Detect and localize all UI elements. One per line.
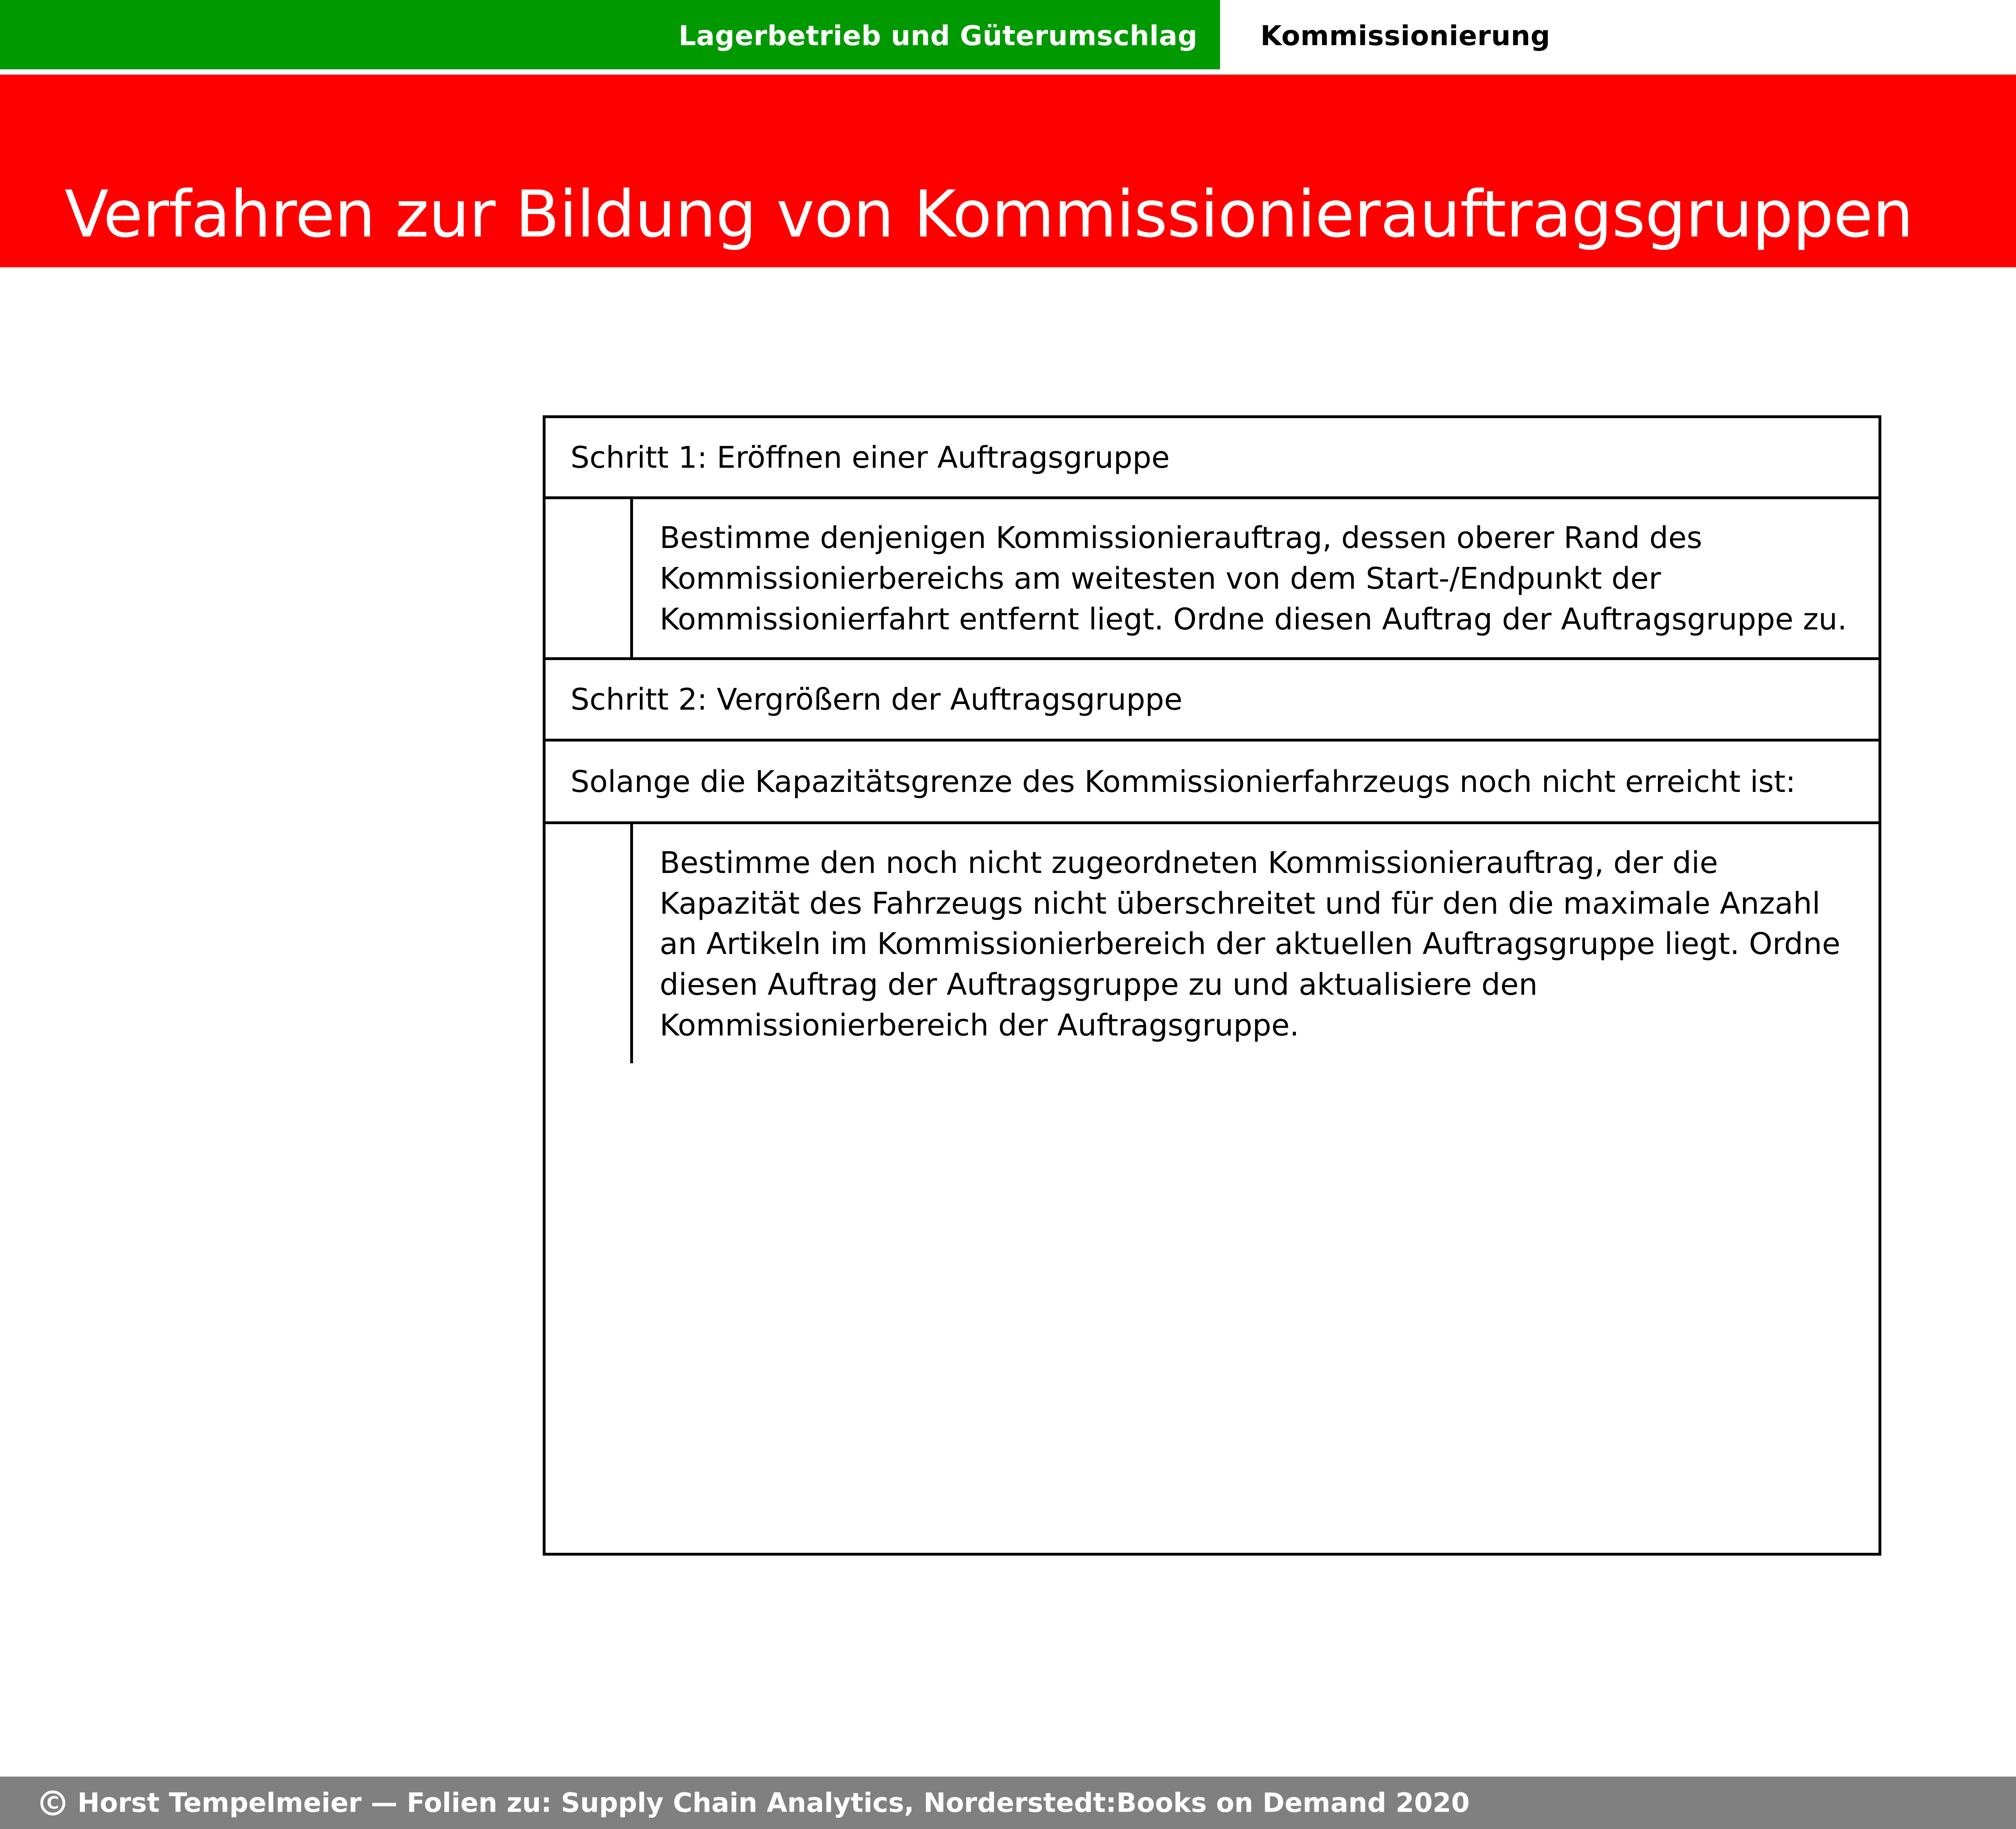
procedure-indent-gutter (546, 824, 633, 1063)
nav-section-block[interactable]: Lagerbetrieb und Güterumschlag (0, 0, 1220, 69)
procedure-row: Solange die Kapazitätsgrenze des Kommiss… (546, 739, 1879, 822)
procedure-step-heading: Schritt 2: Vergrößern der Auftragsgruppe (546, 660, 1879, 738)
navigation-bar: Lagerbetrieb und Güterumschlag Kommissio… (0, 0, 2016, 69)
procedure-condition-text: Solange die Kapazitätsgrenze des Kommiss… (546, 742, 1879, 822)
footer-credit-text: Horst Tempelmeier — Folien zu: Supply Ch… (77, 1787, 1470, 1819)
procedure-instruction-text: Bestimme den noch nicht zugeordneten Kom… (633, 824, 1879, 1063)
procedure-row: Bestimme denjenigen Kommissionierauftrag… (546, 496, 1879, 657)
copyright-icon: C (40, 1790, 65, 1815)
procedure-row: Schritt 1: Eröffnen einer Auftragsgruppe (546, 418, 1879, 496)
nav-subsection-label[interactable]: Kommissionierung (1260, 20, 1550, 52)
slide-title-banner: Verfahren zur Bildung von Kommissioniera… (0, 75, 2016, 267)
nav-section-label: Lagerbetrieb und Güterumschlag (679, 20, 1198, 52)
page-title: Verfahren zur Bildung von Kommissioniera… (65, 177, 1913, 252)
procedure-row: Schritt 2: Vergrößern der Auftragsgruppe (546, 657, 1879, 738)
procedure-box: Schritt 1: Eröffnen einer Auftragsgruppe… (543, 415, 1881, 1556)
procedure-step-heading: Schritt 1: Eröffnen einer Auftragsgruppe (546, 418, 1879, 496)
procedure-indent-gutter (546, 499, 633, 657)
footer-bar: C Horst Tempelmeier — Folien zu: Supply … (0, 1777, 2016, 1829)
procedure-row: Bestimme den noch nicht zugeordneten Kom… (546, 821, 1879, 1063)
footer-credit: C Horst Tempelmeier — Folien zu: Supply … (40, 1787, 1470, 1819)
procedure-instruction-text: Bestimme denjenigen Kommissionierauftrag… (633, 499, 1879, 657)
